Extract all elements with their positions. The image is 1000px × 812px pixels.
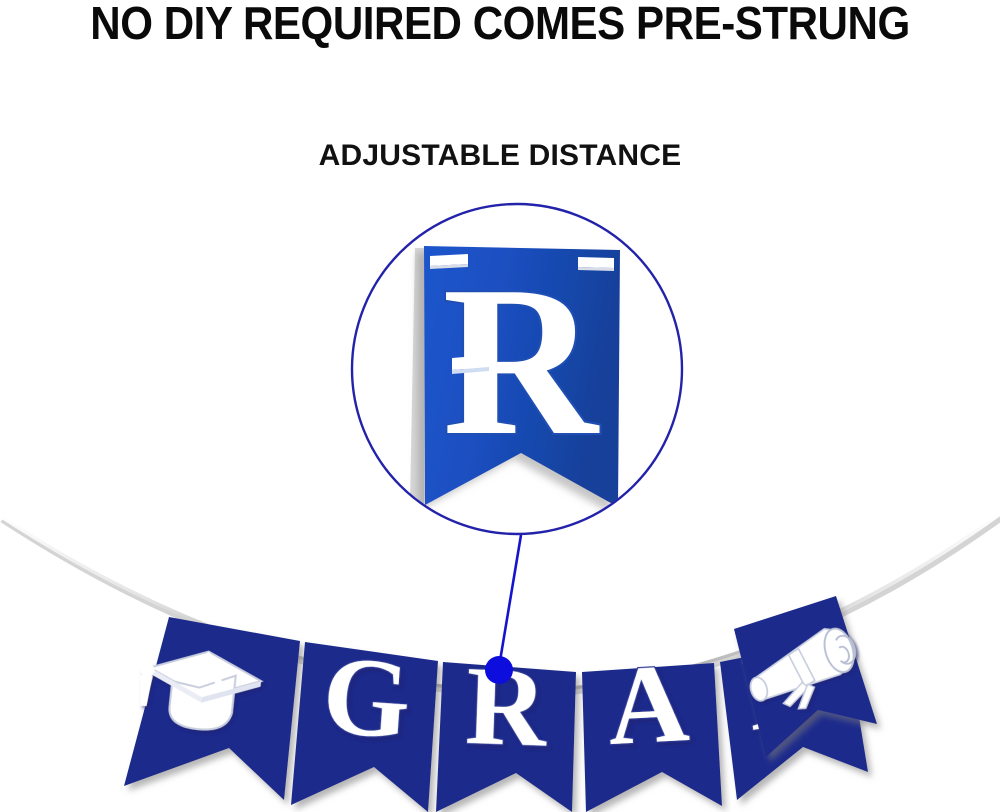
banner-letter-g: G <box>319 633 415 763</box>
illustration-canvas: G R A D <box>0 0 1000 812</box>
product-feature-image: NO DIY REQUIRED COMES PRE-STRUNG ADJUSTA… <box>0 0 1000 812</box>
banner-letter-a: A <box>604 641 691 769</box>
zoom-flag: R <box>410 241 620 507</box>
callout-marker-dot <box>485 656 513 684</box>
